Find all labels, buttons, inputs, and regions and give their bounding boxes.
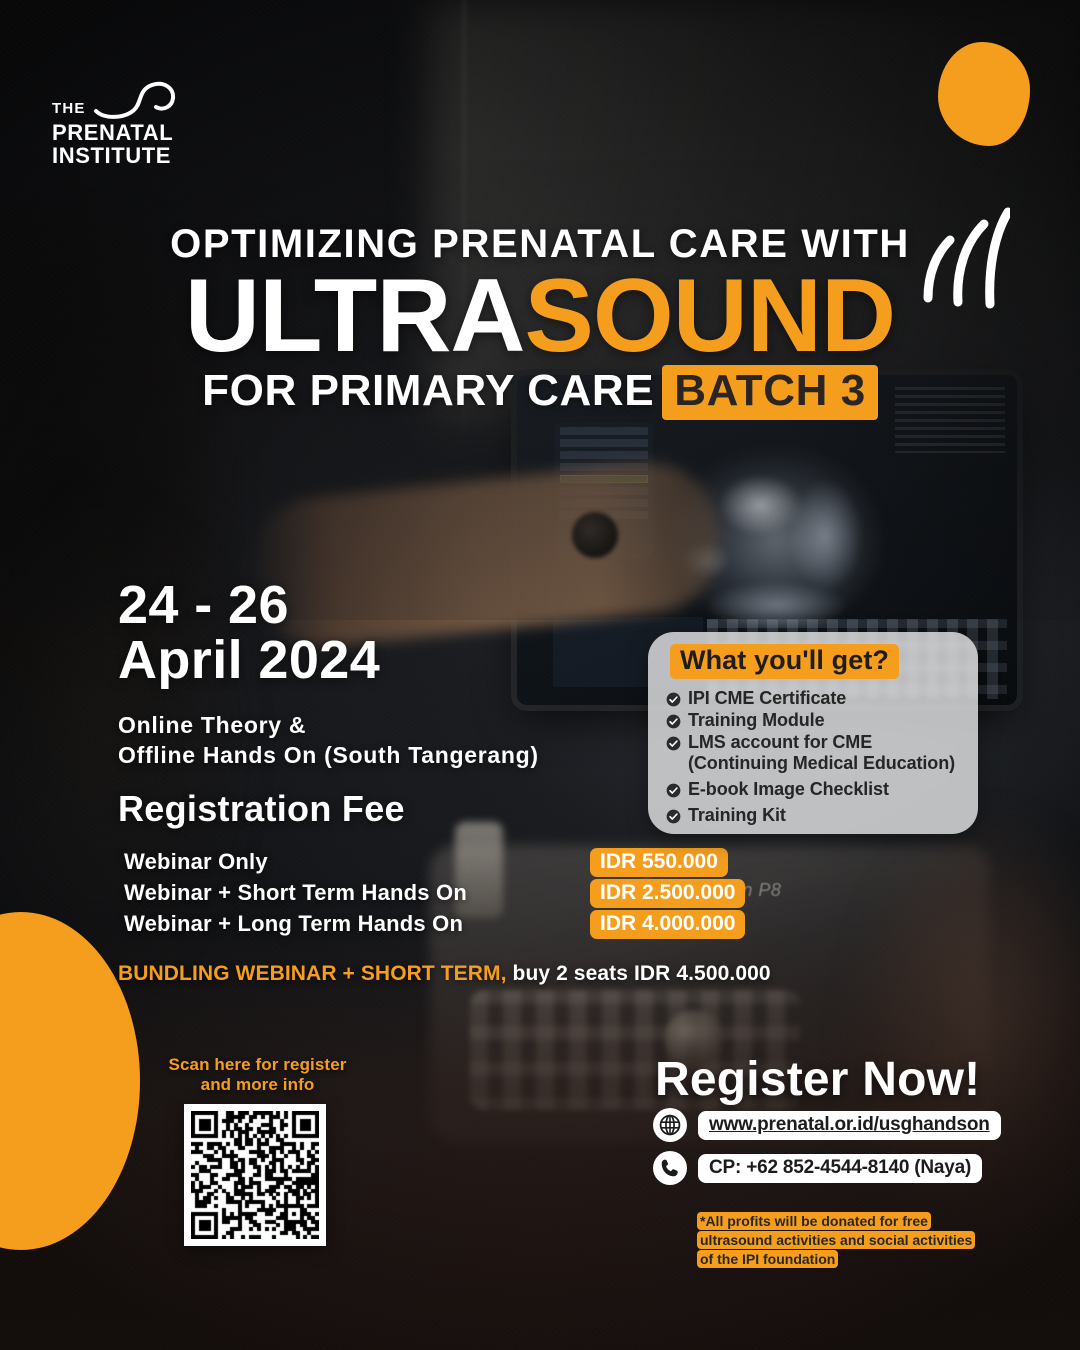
benefit-text: E-book Image Checklist — [688, 779, 889, 800]
fee-label: Webinar Only — [124, 849, 268, 875]
benefit-item: Training Module — [666, 710, 970, 731]
contact-block: www.prenatal.or.id/usghandson CP: +62 85… — [653, 1108, 1001, 1194]
fee-label: Webinar + Short Term Hands On — [124, 880, 467, 906]
fetus-swoosh-icon — [90, 74, 182, 122]
event-mode-line-2: Offline Hands On (South Tangerang) — [118, 740, 539, 770]
qr-caption: Scan here for register and more info — [165, 1055, 350, 1096]
bundling-highlight: BUNDLING WEBINAR + SHORT TERM, — [118, 962, 507, 985]
fee-price-badge: IDR 2.500.000 — [590, 879, 745, 908]
qr-code-canvas[interactable] — [191, 1111, 319, 1239]
contact-row-phone[interactable]: CP: +62 852-4544-8140 (Naya) — [653, 1151, 1001, 1185]
batch-badge: BATCH 3 — [662, 365, 878, 420]
logo-name: PRENATAL INSTITUTE — [52, 122, 212, 167]
bundling-rest: buy 2 seats IDR 4.500.000 — [513, 962, 771, 985]
benefit-item: Training Kit — [666, 805, 970, 826]
headline-line-3: FOR PRIMARY CAREBATCH 3 — [0, 365, 1080, 420]
logo-name-line1: PRENATAL — [52, 122, 212, 145]
event-date-line-2: April 2024 — [118, 633, 380, 688]
fee-row: Webinar Only IDR 550.000 — [124, 846, 624, 877]
qr-caption-line-2: and more info — [165, 1075, 350, 1095]
fee-table: Webinar Only IDR 550.000 Webinar + Short… — [124, 846, 624, 939]
benefit-item: LMS account for CME (Continuing Medical … — [666, 732, 970, 774]
poster-canvas: Voluson P8 THE PRENATAL INSTITUTE OPTIMI… — [0, 0, 1080, 1350]
headline-subtitle: FOR PRIMARY CARE — [202, 366, 654, 415]
check-circle-icon — [666, 736, 681, 751]
phone-icon — [653, 1151, 687, 1185]
headline-ultra: ULTRA — [185, 258, 525, 374]
fee-price-badge: IDR 4.000.000 — [590, 910, 745, 939]
check-circle-icon — [666, 714, 681, 729]
benefit-text: Training Module — [688, 710, 825, 731]
qr-code[interactable] — [184, 1104, 326, 1246]
event-mode-line-1: Online Theory & — [118, 710, 539, 740]
registration-fee-title: Registration Fee — [118, 788, 405, 830]
globe-icon — [653, 1108, 687, 1142]
check-circle-icon — [666, 783, 681, 798]
benefits-list: IPI CME Certificate Training Module LMS … — [666, 688, 970, 827]
benefits-title: What you'll get? — [670, 644, 899, 679]
benefits-card: What you'll get? IPI CME Certificate Tra… — [648, 632, 978, 834]
brand-logo: THE PRENATAL INSTITUTE — [52, 78, 212, 167]
bundling-offer: BUNDLING WEBINAR + SHORT TERM, buy 2 sea… — [118, 962, 771, 986]
event-mode: Online Theory & Offline Hands On (South … — [118, 710, 539, 771]
logo-the-text: THE — [52, 100, 86, 117]
benefit-text: Training Kit — [688, 805, 786, 826]
qr-caption-line-1: Scan here for register — [165, 1055, 350, 1075]
benefit-item: IPI CME Certificate — [666, 688, 970, 709]
benefit-text: IPI CME Certificate — [688, 688, 846, 709]
orange-blob-top-right — [938, 42, 1030, 146]
check-circle-icon — [666, 809, 681, 824]
event-date-line-1: 24 - 26 — [118, 578, 380, 633]
logo-mark: THE — [52, 78, 212, 122]
phone-number[interactable]: CP: +62 852-4544-8140 (Naya) — [698, 1154, 982, 1183]
fee-row: Webinar + Long Term Hands On IDR 4.000.0… — [124, 908, 624, 939]
fee-row: Webinar + Short Term Hands On IDR 2.500.… — [124, 877, 624, 908]
ultrasound-wave-icon — [912, 202, 1010, 310]
event-date: 24 - 26 April 2024 — [118, 578, 380, 688]
website-url[interactable]: www.prenatal.or.id/usghandson — [698, 1111, 1001, 1140]
contact-row-website[interactable]: www.prenatal.or.id/usghandson — [653, 1108, 1001, 1142]
benefit-item: E-book Image Checklist — [666, 779, 970, 800]
fee-label: Webinar + Long Term Hands On — [124, 911, 463, 937]
check-circle-icon — [666, 692, 681, 707]
benefit-text: LMS account for CME (Continuing Medical … — [688, 732, 970, 774]
headline-sound: SOUND — [525, 258, 896, 374]
register-now-heading: Register Now! — [655, 1052, 980, 1107]
logo-name-line2: INSTITUTE — [52, 145, 212, 168]
disclaimer-text: *All profits will be donated for free ul… — [697, 1212, 975, 1268]
disclaimer-note: *All profits will be donated for free ul… — [697, 1212, 989, 1268]
fee-price-badge: IDR 550.000 — [590, 848, 728, 877]
